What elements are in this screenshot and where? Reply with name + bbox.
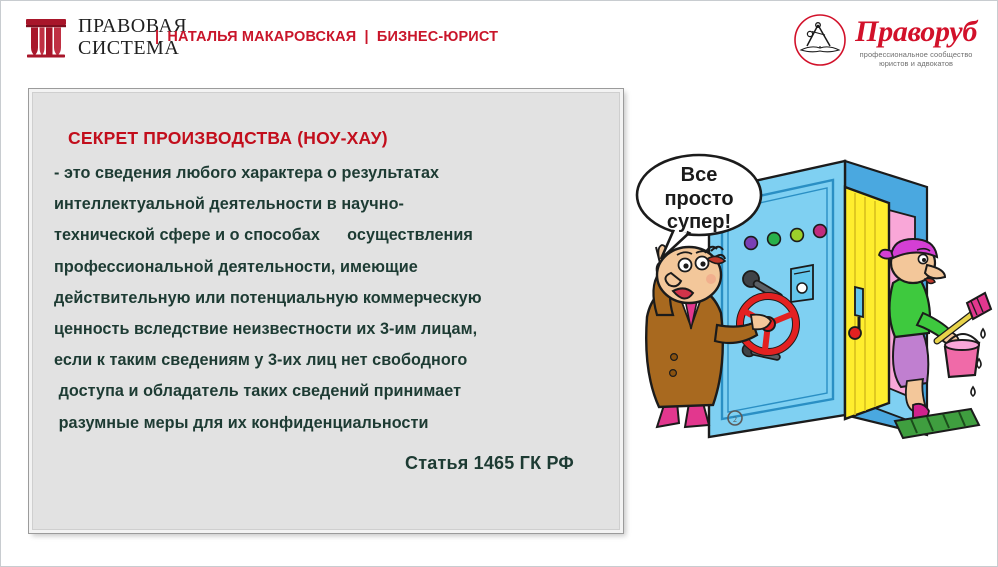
bubble-line-2: просто	[664, 188, 733, 210]
body-line: - это сведения любого характера о резуль…	[54, 165, 598, 181]
safe-keypad-icon	[791, 265, 813, 302]
body-line: разумные меры для их конфиденциальности	[54, 415, 598, 431]
tagline-separator-2: |	[361, 29, 373, 45]
bubble-line-1: Все	[681, 164, 718, 186]
body-line: действительную или потенциальную коммерч…	[54, 290, 598, 306]
slide-root: ПРАВОВАЯ СИСТЕМА | НАТАЛЬЯ МАКАРОВСКАЯ |…	[0, 0, 998, 567]
law-citation: Статья 1465 ГК РФ	[54, 453, 598, 474]
body-line: технической сфере и о способах осуществл…	[54, 227, 598, 243]
body-line: если к таким сведениям у 3-их лиц нет св…	[54, 352, 598, 368]
tagline-person-name: НАТАЛЬЯ МАКАРОВСКАЯ	[167, 29, 356, 45]
panel-body: - это сведения любого характера о резуль…	[54, 165, 598, 431]
body-line: интеллектуальной деятельности в научно-	[54, 196, 598, 212]
right-brand: Праворуб профессиональное сообщество юри…	[793, 13, 977, 69]
yellow-open-door-icon	[845, 187, 889, 419]
header-tagline: | НАТАЛЬЯ МАКАРОВСКАЯ | БИЗНЕС-ЮРИСТ	[151, 29, 498, 45]
slide-header: ПРАВОВАЯ СИСТЕМА | НАТАЛЬЯ МАКАРОВСКАЯ |…	[1, 1, 998, 83]
compass-over-open-book-icon	[793, 13, 847, 67]
pravorub-name: Праворуб	[855, 17, 977, 47]
pravorub-subtitle-line1: профессиональное сообщество	[855, 50, 977, 59]
tagline-role: БИЗНЕС-ЮРИСТ	[377, 29, 498, 45]
body-line: профессиональной деятельности, имеющие	[54, 259, 598, 275]
pink-bucket-icon	[945, 334, 979, 377]
svg-text:2: 2	[733, 415, 737, 424]
pravorub-subtitle: профессиональное сообщество юристов и ад…	[855, 50, 977, 69]
body-line: доступа и обладатель таких сведений прин…	[54, 383, 598, 399]
body-line: ценность вследствие неизвестности их 3-и…	[54, 321, 598, 337]
panel-title: СЕКРЕТ ПРОИЗВОДСТВА (НОУ-ХАУ)	[68, 128, 598, 149]
definition-panel: СЕКРЕТ ПРОИЗВОДСТВА (НОУ-ХАУ) - это свед…	[29, 89, 623, 533]
cartoon-illustration: Все просто супер!	[627, 147, 995, 457]
pillar-column-icon	[25, 16, 67, 58]
bubble-line-3: супер!	[667, 211, 731, 233]
pravorub-subtitle-line2: юристов и адвокатов	[855, 59, 977, 68]
right-brand-wordmark: Праворуб профессиональное сообщество юри…	[855, 13, 977, 69]
tagline-separator-1: |	[151, 29, 163, 45]
